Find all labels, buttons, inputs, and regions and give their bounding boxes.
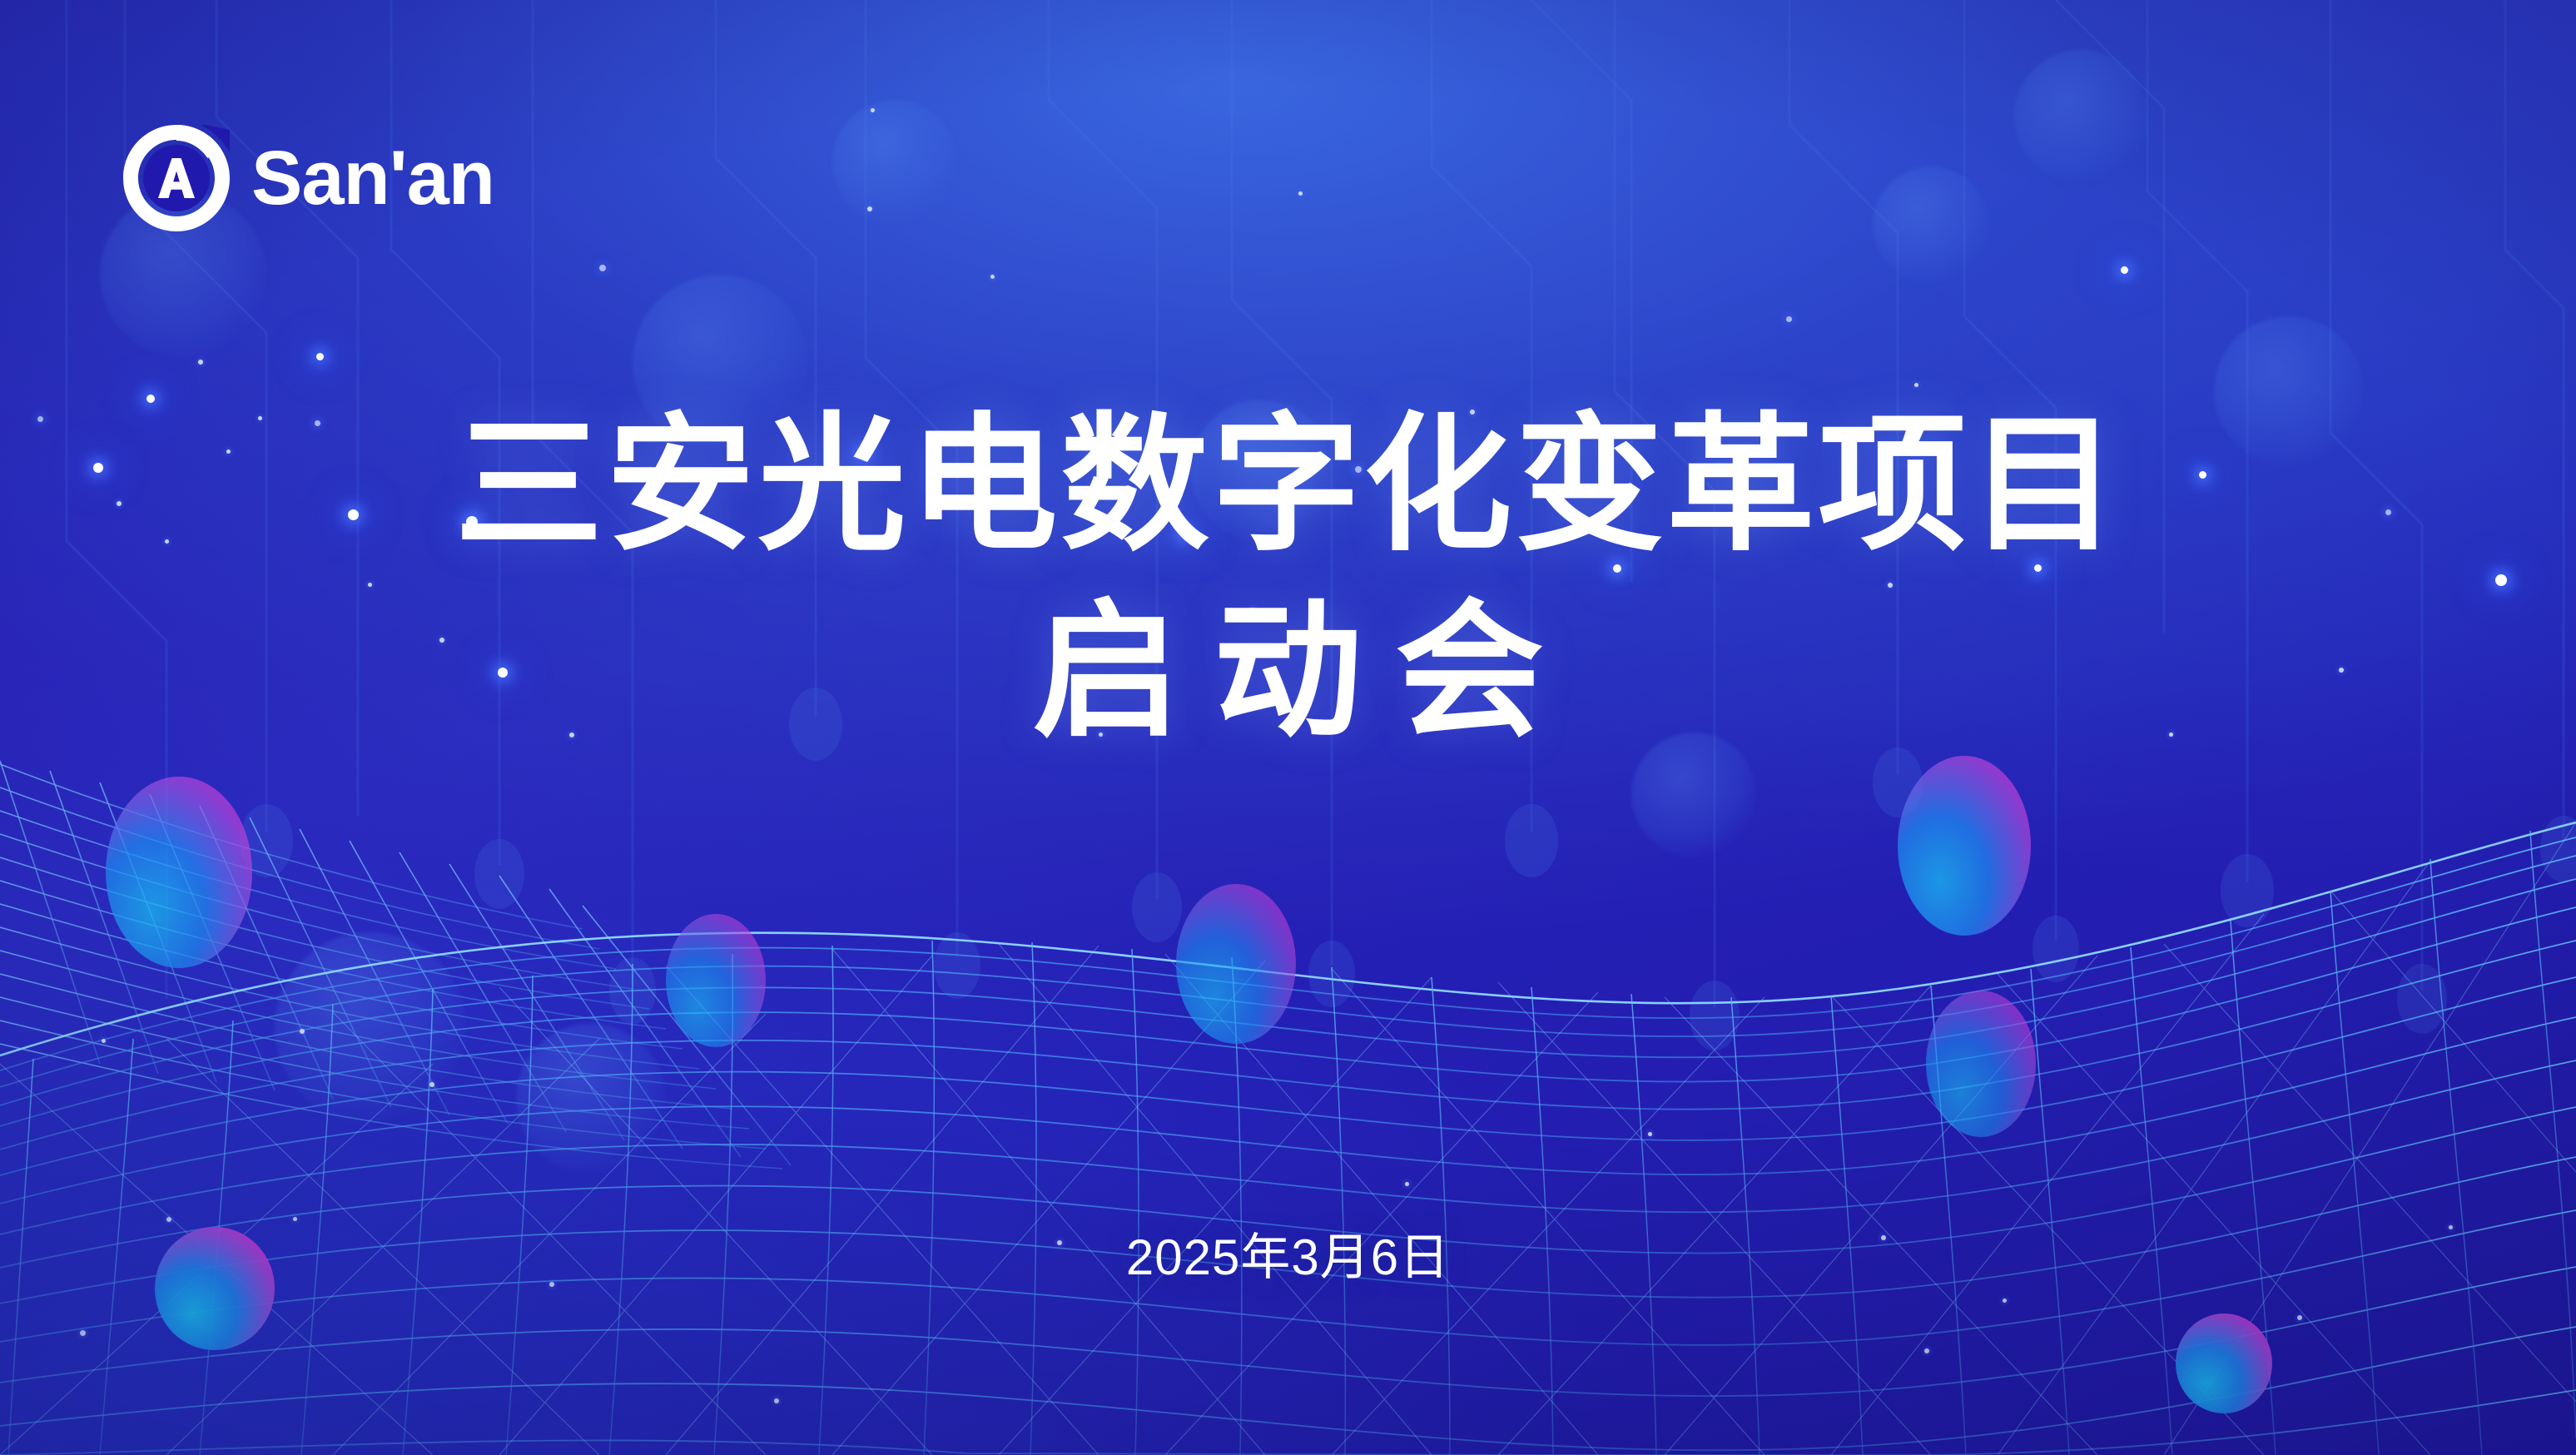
- event-date: 2025年3月6日: [0, 1217, 2576, 1289]
- brand-wordmark: San'an: [251, 140, 494, 216]
- title-line-2: 启动会: [0, 578, 2576, 764]
- presentation-slide: San'an 三安光电数字化变革项目 启动会 2025年3月6日: [0, 0, 2576, 1455]
- sanan-circle-a-logo-icon: [123, 125, 230, 231]
- title-line-1: 三安光电数字化变革项目: [0, 391, 2576, 578]
- page-title: 三安光电数字化变革项目 启动会: [0, 391, 2576, 765]
- brand-logo: San'an: [123, 125, 494, 231]
